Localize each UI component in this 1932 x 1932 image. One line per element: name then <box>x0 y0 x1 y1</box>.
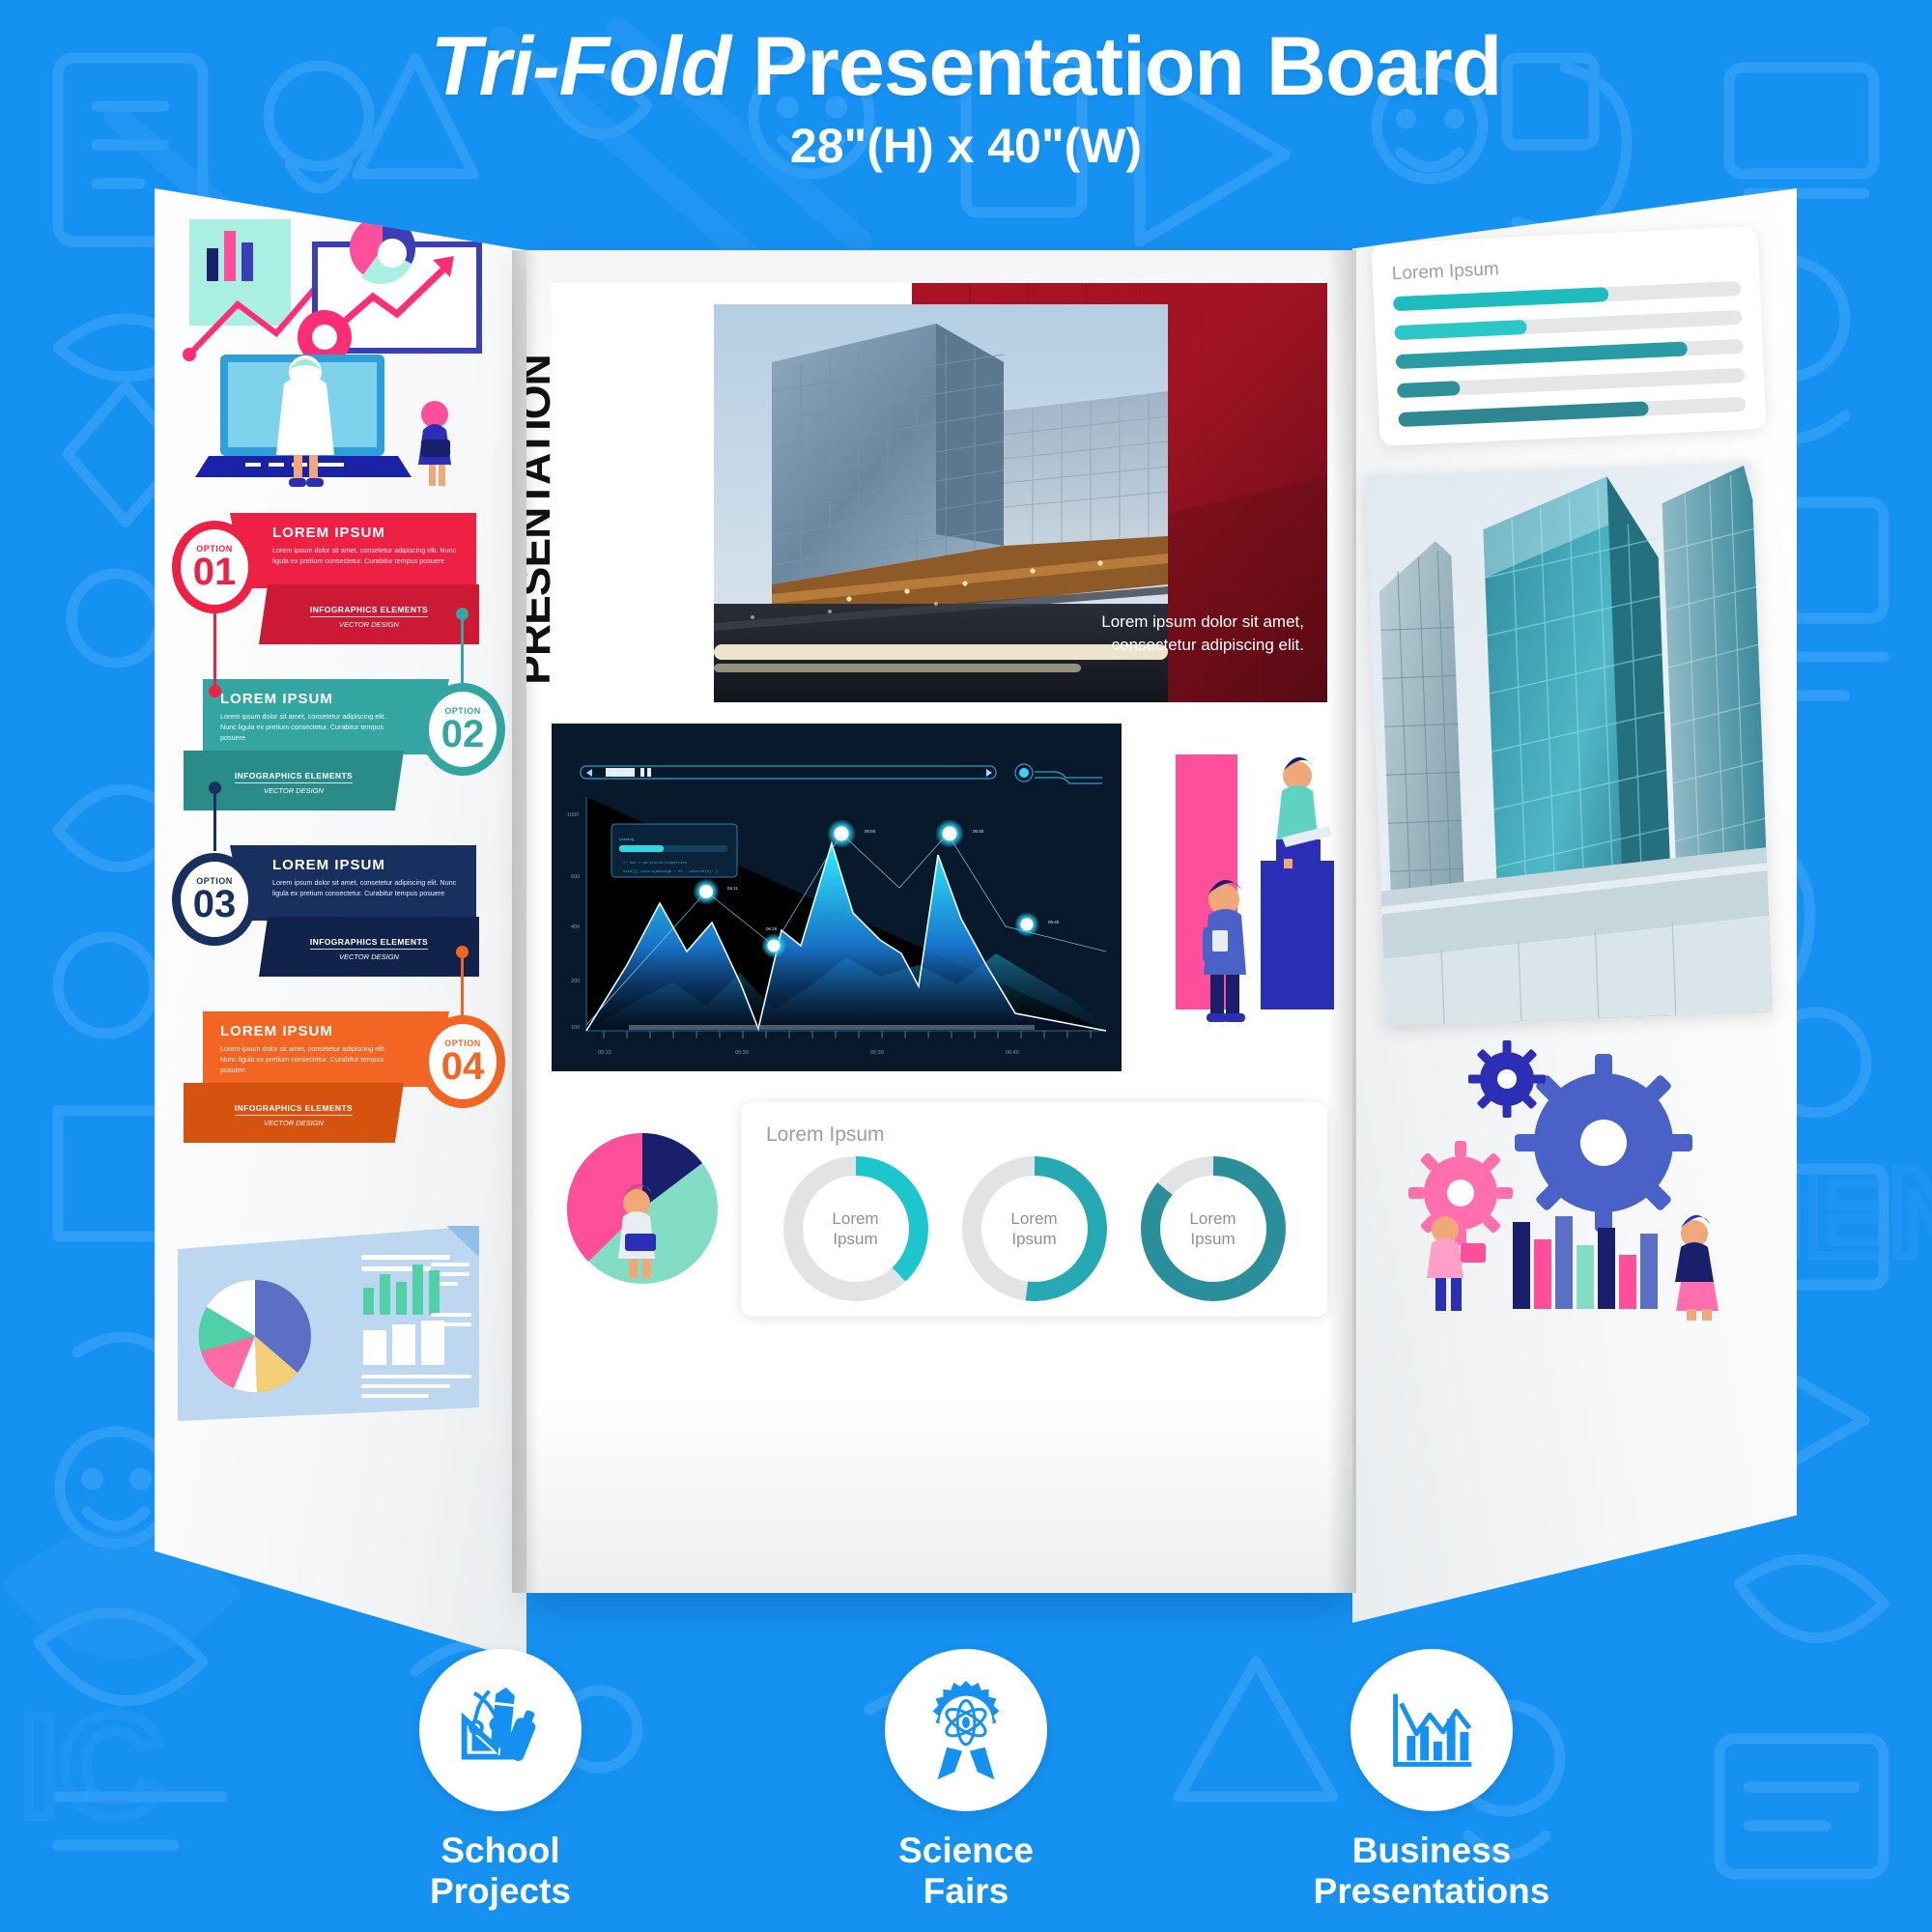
footer-item-business-presentations[interactable]: BusinessPresentations <box>1287 1649 1577 1911</box>
donut-label-2: LoremIpsum <box>981 1176 1088 1282</box>
option-dot-02 <box>456 608 469 620</box>
progress-fill-1 <box>1393 287 1609 311</box>
progress-fill-4 <box>1397 381 1460 398</box>
option-footer-a-04: INFOGRAPHICS ELEMENTS <box>235 1103 353 1116</box>
option-badge-number-04: 04 <box>441 1048 485 1085</box>
progress-bars-card: Lorem Ipsum <box>1371 226 1766 446</box>
donut-chart-1: LoremIpsum <box>783 1156 928 1301</box>
hero-slide: BUSINESS PRESENTATION <box>552 283 1327 702</box>
option-connector-01 <box>213 610 216 687</box>
option-footer-04: INFOGRAPHICS ELEMENTS VECTOR DESIGN <box>184 1083 404 1143</box>
footer-item-science-fairs[interactable]: ScienceFairs <box>821 1649 1111 1911</box>
option-body-01: Lorem ipsum dolor sit amet, consetetur a… <box>272 545 465 566</box>
option-heading-02: LOREM IPSUM <box>220 691 399 707</box>
option-footer-b-01: VECTOR DESIGN <box>259 620 479 629</box>
option-connector-03 <box>213 787 216 851</box>
option-heading-04: LOREM IPSUM <box>220 1023 399 1039</box>
progress-track-4 <box>1397 368 1745 398</box>
option-connector-04 <box>461 952 464 1015</box>
board-fold-shadow-left <box>512 250 539 1593</box>
progress-fill-3 <box>1396 341 1689 369</box>
kpi-card-title: Lorem Ipsum <box>766 1123 1302 1147</box>
option-badge-03: OPTION 03 <box>172 853 257 946</box>
page-header: Tri-Fold Presentation Board 28"(H) x 40"… <box>0 23 1932 174</box>
svg-text:06:40: 06:40 <box>973 829 984 834</box>
progress-track-2 <box>1394 310 1742 340</box>
option-row-03: LOREM IPSUM Lorem ipsum dolor sit amet, … <box>172 845 505 1009</box>
progress-track-3 <box>1396 339 1744 369</box>
option-body-04: Lorem ipsum dolor sit amet, consetetur a… <box>220 1043 399 1075</box>
option-row-02: LOREM IPSUM Lorem ipsum dolor sit amet, … <box>172 679 505 843</box>
option-badge-04: OPTION 04 <box>420 1015 505 1108</box>
board-fold-shadow-right <box>1327 250 1356 1593</box>
option-footer-a-03: INFOGRAPHICS ELEMENTS <box>310 937 428 950</box>
option-dot-04 <box>456 946 469 958</box>
left-dashboard-illustration <box>172 1214 491 1427</box>
progress-fill-5 <box>1398 401 1649 427</box>
footer-label-science-fairs: ScienceFairs <box>821 1831 1111 1911</box>
craft-tools-icon <box>419 1649 582 1811</box>
progress-bars-title: Lorem Ipsum <box>1391 248 1740 285</box>
svg-text:100: 100 <box>571 1025 580 1031</box>
donut-chart-2: LoremIpsum <box>962 1156 1107 1301</box>
footer-item-school-projects[interactable]: SchoolProjects <box>355 1649 645 1911</box>
svg-text:// bus = persisted properties: // bus = persisted properties <box>623 861 687 866</box>
svg-text:600: 600 <box>571 874 580 880</box>
gears-team-illustration <box>1376 1040 1762 1321</box>
option-badge-02: OPTION 02 <box>420 683 505 776</box>
svg-text:06:40: 06:40 <box>1006 1050 1019 1056</box>
kpi-card: Lorem Ipsum LoremIpsum LoremIpsum <box>741 1102 1327 1317</box>
title-italic-part: Tri-Fold <box>431 20 730 113</box>
board-panel-right: Lorem Ipsum <box>1352 188 1797 1623</box>
svg-text:200: 200 <box>571 979 580 984</box>
svg-text:06:40: 06:40 <box>1048 920 1060 924</box>
tri-fold-board: LOREM IPSUM Lorem ipsum dolor sit amet, … <box>155 188 1797 1695</box>
option-heading-01: LOREM IPSUM <box>272 525 465 541</box>
board-panel-left: LOREM IPSUM Lorem ipsum dolor sit amet, … <box>155 188 526 1662</box>
svg-text:06:30: 06:30 <box>870 1050 884 1056</box>
option-badge-number-01: 01 <box>193 554 237 590</box>
option-badge-number-03: 03 <box>193 886 237 923</box>
left-analytics-illustration <box>180 210 498 499</box>
board-panel-center: BUSINESS PRESENTATION <box>526 250 1352 1593</box>
option-footer-a-02: INFOGRAPHICS ELEMENTS <box>235 771 353 783</box>
option-body-02: Lorem ipsum dolor sit amet, consetetur a… <box>220 711 399 743</box>
option-row-04: LOREM IPSUM Lorem ipsum dolor sit amet, … <box>172 1011 505 1176</box>
option-bar-03: LOREM IPSUM Lorem ipsum dolor sit amet, … <box>230 845 476 921</box>
option-badge-number-02: 02 <box>441 716 485 753</box>
option-footer-03: INFOGRAPHICS ELEMENTS VECTOR DESIGN <box>259 917 479 977</box>
use-case-footer: SchoolProjects <box>0 1649 1932 1911</box>
option-row-01: LOREM IPSUM Lorem ipsum dolor sit amet, … <box>172 513 505 677</box>
svg-text:400: 400 <box>571 924 580 930</box>
svg-text:06:11: 06:11 <box>727 886 738 891</box>
center-pie-illustration <box>555 1120 729 1293</box>
footer-label-business-presentations: BusinessPresentations <box>1287 1831 1577 1911</box>
option-footer-b-04: VECTOR DESIGN <box>184 1119 404 1127</box>
option-footer-b-03: VECTOR DESIGN <box>259 952 479 961</box>
option-connector-02 <box>461 613 464 683</box>
kpi-donut-row: LoremIpsum LoremIpsum LoremIpsum <box>766 1156 1302 1301</box>
skyscrapers-photo <box>1365 462 1773 1027</box>
science-ribbon-icon <box>885 1649 1047 1811</box>
option-infographic-stack: LOREM IPSUM Lorem ipsum dolor sit amet, … <box>172 513 505 1208</box>
option-footer-01: INFOGRAPHICS ELEMENTS VECTOR DESIGN <box>259 584 479 644</box>
donut-label-1: LoremIpsum <box>803 1176 909 1282</box>
svg-text:05:10: 05:10 <box>598 1050 611 1056</box>
progress-fill-2 <box>1394 320 1526 340</box>
option-bar-01: LOREM IPSUM Lorem ipsum dolor sit amet, … <box>230 513 476 588</box>
people-bar-illustration <box>1168 737 1352 1065</box>
svg-text:void(){ return(message + bs ,: void(){ return(message + bs , observe(s)… <box>623 869 718 874</box>
svg-text:1000: 1000 <box>567 812 579 818</box>
hero-title-column: BUSINESS PRESENTATION <box>552 283 714 702</box>
svg-text:06:28: 06:28 <box>766 926 778 931</box>
option-heading-03: LOREM IPSUM <box>272 857 465 873</box>
option-bar-04: LOREM IPSUM Lorem ipsum dolor sit amet, … <box>203 1011 449 1087</box>
page-title: Tri-Fold Presentation Board <box>0 23 1932 110</box>
svg-text:05:30: 05:30 <box>735 1050 749 1056</box>
svg-text:05:50: 05:50 <box>865 829 876 834</box>
option-bar-02: LOREM IPSUM Lorem ipsum dolor sit amet, … <box>203 679 449 754</box>
footer-label-school-projects: SchoolProjects <box>355 1831 645 1911</box>
option-footer-a-01: INFOGRAPHICS ELEMENTS <box>310 605 428 617</box>
donut-chart-3: LoremIpsum <box>1141 1156 1286 1301</box>
progress-track-5 <box>1398 397 1746 427</box>
progress-track-1 <box>1393 281 1741 311</box>
donut-label-3: LoremIpsum <box>1160 1176 1266 1282</box>
center-bottom-row: Lorem Ipsum LoremIpsum LoremIpsum <box>552 1102 1327 1329</box>
svg-text:Loading: Loading <box>619 838 634 842</box>
page-subtitle: 28"(H) x 40"(W) <box>0 118 1932 174</box>
dark-analytics-chart: 1000600400200100 05:1005:3006:3006:40 <box>552 724 1122 1071</box>
hero-caption: Lorem ipsum dolor sit amet, consectetur … <box>1082 611 1304 658</box>
bar-chart-icon <box>1350 1649 1513 1811</box>
title-regular-part: Presentation Board <box>730 20 1501 113</box>
option-body-03: Lorem ipsum dolor sit amet, consetetur a… <box>272 877 465 898</box>
option-dot-01 <box>209 685 221 697</box>
option-badge-01: OPTION 01 <box>172 521 257 613</box>
option-footer-02: INFOGRAPHICS ELEMENTS VECTOR DESIGN <box>184 751 404 810</box>
option-dot-03 <box>209 781 221 794</box>
